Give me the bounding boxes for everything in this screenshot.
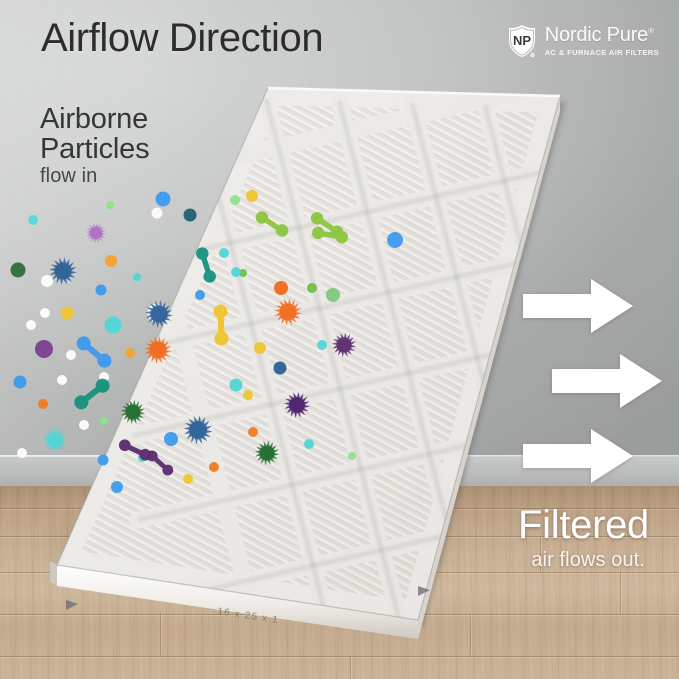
brand-logo[interactable]: NP R Nordic Pure® AC & FURNACE AIR FILTE…: [507, 24, 659, 58]
svg-text:NP: NP: [513, 33, 531, 48]
particle-virus: [86, 223, 106, 243]
particle-dot: [209, 462, 219, 472]
airborne-particles-caption: Airborne Particles: [40, 104, 149, 164]
particle-bacterium: [253, 209, 290, 239]
particle-dot: [26, 320, 36, 330]
airflow-arrow-1: [523, 277, 635, 335]
brand-name: Nordic Pure®: [545, 25, 659, 45]
caption-line-2: Particles: [40, 134, 149, 164]
particle-dot: [61, 307, 74, 320]
particle-bacterium: [72, 376, 113, 412]
particle-dot: [96, 285, 107, 296]
particle-dot: [183, 474, 193, 484]
svg-text:R: R: [531, 54, 533, 57]
particle-dot: [243, 390, 253, 400]
particle-dot: [326, 288, 340, 302]
particle-dot: [317, 340, 327, 350]
particle-dot: [304, 439, 314, 449]
particle-dot: [111, 481, 123, 493]
particle-dot: [66, 350, 76, 360]
particle-dot: [387, 232, 403, 248]
nordic-pure-shield-icon: NP R: [507, 24, 537, 58]
particle-dot: [152, 208, 163, 219]
particle-virus: [43, 428, 68, 453]
particle-virus: [144, 336, 172, 364]
particle-bacterium: [144, 448, 175, 477]
particle-dot: [79, 420, 89, 430]
particle-dot: [125, 348, 135, 358]
particle-virus: [284, 392, 310, 418]
particle-virus: [183, 415, 212, 444]
particle-dot: [28, 215, 38, 225]
particle-dot: [230, 195, 240, 205]
particle-dot: [307, 283, 317, 293]
particle-bacterium: [74, 333, 114, 370]
airflow-arrow-3: [523, 427, 635, 485]
particle-dot: [106, 201, 114, 209]
particle-dot: [57, 375, 67, 385]
particle-dot: [231, 267, 241, 277]
airborne-particles-layer: [0, 0, 679, 679]
filtered-sub-caption: air flows out.: [531, 549, 645, 572]
particle-virus: [121, 400, 146, 425]
particle-virus: [49, 257, 77, 285]
particle-dot: [164, 432, 178, 446]
particle-dot: [41, 275, 53, 287]
registered-mark: ®: [648, 27, 654, 36]
particle-dot: [195, 290, 205, 300]
page-title: Airflow Direction: [41, 16, 323, 61]
particle-dot: [254, 342, 266, 354]
particle-dot: [184, 209, 197, 222]
particle-bacterium: [194, 246, 217, 285]
particle-dot: [105, 317, 122, 334]
particle-dot: [100, 417, 108, 425]
particle-dot: [14, 376, 27, 389]
particle-dot: [230, 379, 243, 392]
particle-dot: [98, 455, 109, 466]
particle-dot: [11, 263, 26, 278]
filtered-caption: Filtered: [518, 503, 649, 548]
flow-in-caption: flow in: [40, 165, 97, 188]
particle-dot: [105, 255, 117, 267]
particle-dot: [38, 399, 48, 409]
particle-bacterium: [213, 304, 228, 346]
particle-dot: [35, 340, 53, 358]
brand-tagline: AC & FURNACE AIR FILTERS: [545, 49, 659, 57]
particle-dot: [274, 362, 287, 375]
particle-virus: [332, 333, 357, 358]
particle-dot: [40, 308, 50, 318]
particle-dot: [274, 281, 288, 295]
particle-dot: [219, 248, 229, 258]
caption-line-1: Airborne: [40, 103, 148, 135]
particle-virus: [274, 298, 302, 326]
particle-dot: [248, 427, 258, 437]
product-infographic: 16 x 25 x 1 Airflow Direction Airborne P…: [0, 0, 679, 679]
particle-dot: [156, 192, 171, 207]
particle-dot: [348, 452, 356, 460]
airflow-arrow-2: [552, 352, 664, 410]
particle-dot: [17, 448, 27, 458]
particle-dot: [246, 190, 258, 202]
particle-virus: [255, 441, 280, 466]
particle-dot: [133, 273, 141, 281]
